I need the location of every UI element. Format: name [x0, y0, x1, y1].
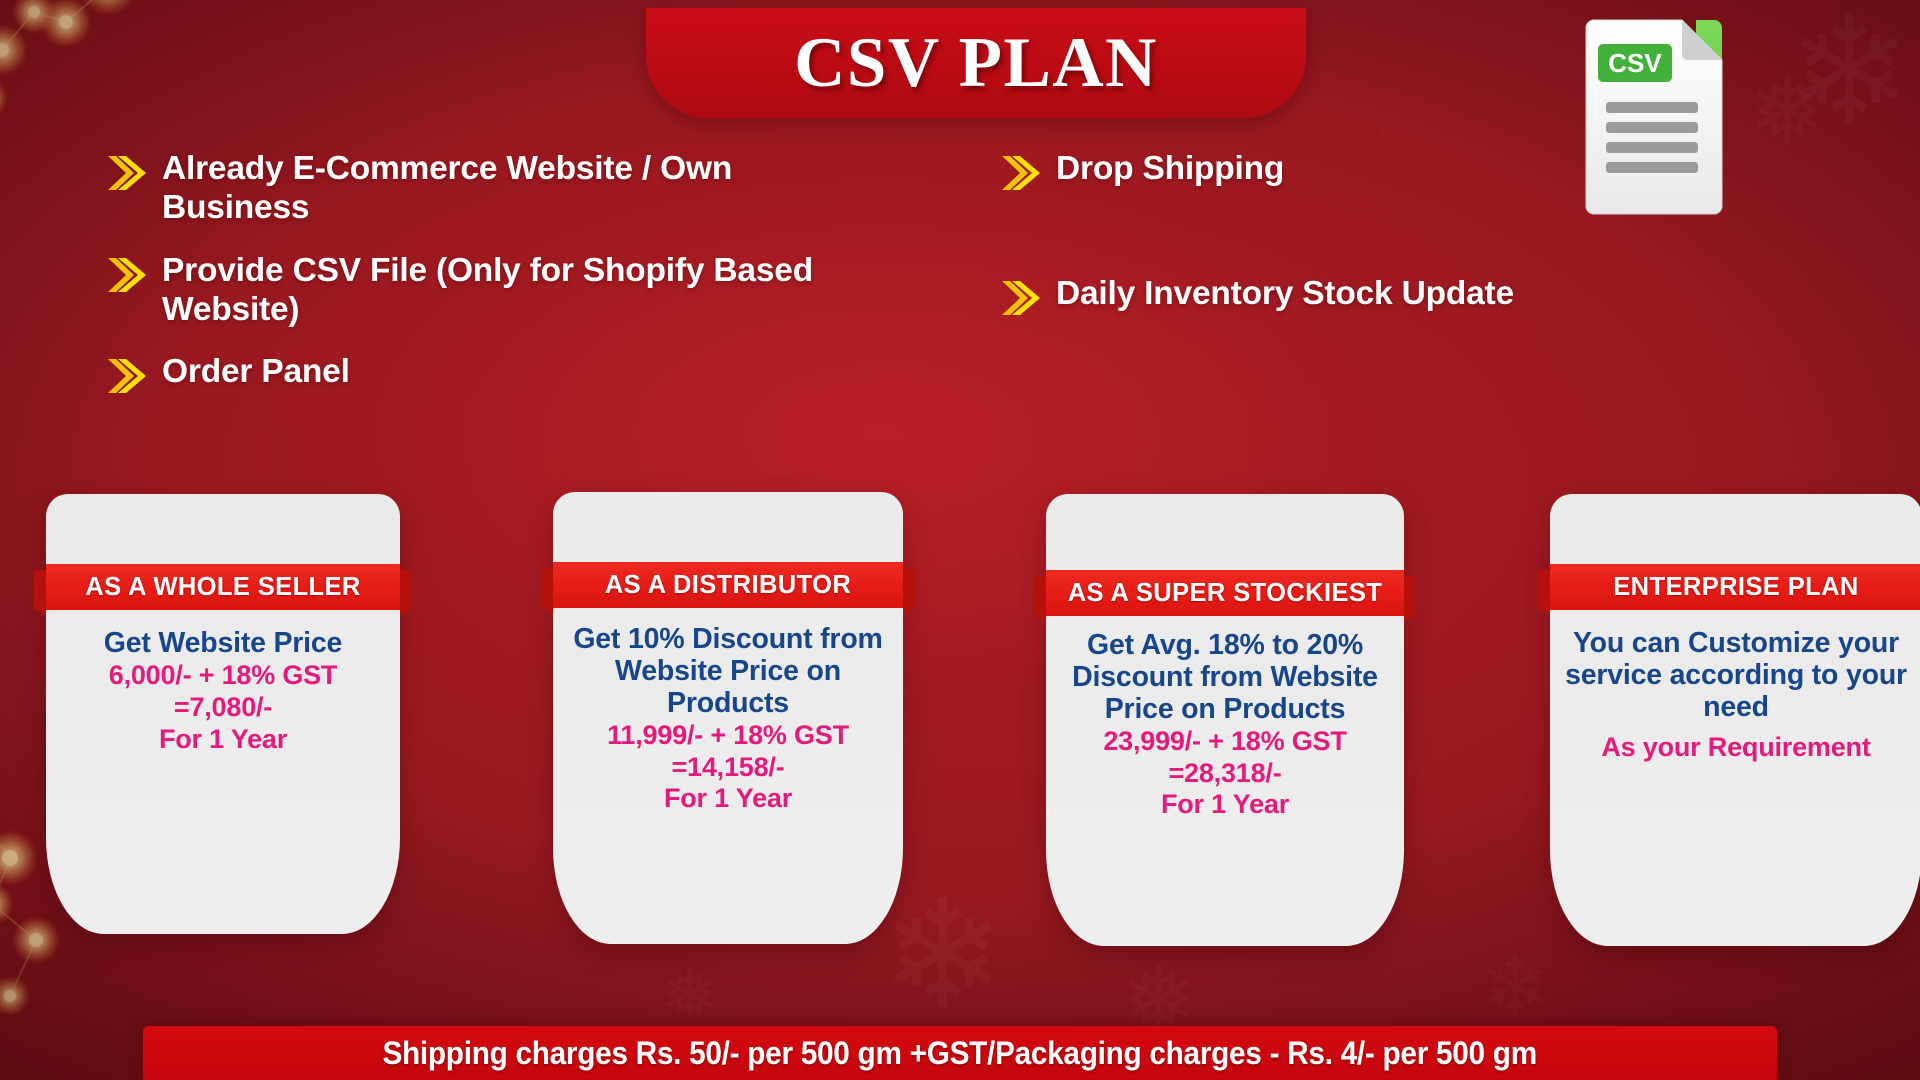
ribbon-band: AS A WHOLE SELLER	[46, 564, 400, 610]
double-chevron-icon	[106, 256, 148, 299]
svg-text:CSV: CSV	[1608, 48, 1662, 78]
plan-price-line: For 1 Year	[565, 783, 891, 815]
page-title-banner: CSV PLAN	[646, 8, 1306, 118]
plan-card-body: Get Website Price 6,000/- + 18% GST =7,0…	[46, 628, 400, 755]
feature-item: Daily Inventory Stock Update	[1000, 275, 1700, 322]
double-chevron-icon	[1000, 154, 1042, 197]
plan-heading: Get 10% Discount from Website Price on P…	[565, 624, 891, 720]
plan-heading: Get Website Price	[58, 628, 388, 660]
double-chevron-icon	[106, 154, 148, 197]
plan-card-body: Get Avg. 18% to 20% Discount from Websit…	[1046, 630, 1404, 821]
plan-card-enterprise[interactable]: ENTERPRISE PLAN You can Customize your s…	[1550, 494, 1920, 946]
plan-card-group: AS A WHOLE SELLER Get Website Price 6,00…	[0, 494, 1920, 974]
ribbon-band: AS A DISTRIBUTOR	[553, 562, 903, 608]
plan-card-distributor[interactable]: AS A DISTRIBUTOR Get 10% Discount from W…	[553, 492, 903, 944]
ribbon-fold-left	[34, 570, 46, 616]
feature-label: Order Panel	[162, 353, 350, 392]
feature-label: Provide CSV File (Only for Shopify Based…	[162, 252, 846, 330]
plan-card-whole-seller[interactable]: AS A WHOLE SELLER Get Website Price 6,00…	[46, 494, 400, 934]
page-title: CSV PLAN	[794, 23, 1158, 104]
plan-price-line: =7,080/-	[58, 692, 388, 724]
feature-label: Drop Shipping	[1056, 150, 1284, 189]
feature-column-right: Drop Shipping Daily Inventory Stock Upda…	[1000, 150, 1700, 400]
double-chevron-icon	[1000, 279, 1042, 322]
ribbon-fold-left	[1034, 576, 1046, 622]
plan-ribbon: AS A WHOLE SELLER	[34, 564, 412, 610]
feature-item: Drop Shipping	[1000, 150, 1700, 197]
snowflake-icon: ❅	[1749, 66, 1826, 158]
feature-label: Daily Inventory Stock Update	[1056, 275, 1514, 314]
ribbon-band: ENTERPRISE PLAN	[1550, 564, 1920, 610]
plan-ribbon-label: AS A DISTRIBUTOR	[605, 571, 851, 600]
plan-ribbon: AS A DISTRIBUTOR	[541, 562, 915, 608]
plan-heading: You can Customize your service according…	[1562, 628, 1910, 724]
plan-ribbon-label: ENTERPRISE PLAN	[1613, 573, 1858, 602]
double-chevron-icon	[106, 357, 148, 400]
feature-item: Order Panel	[106, 353, 846, 400]
plan-ribbon: AS A SUPER STOCKIEST	[1034, 570, 1416, 616]
footer-text: Shipping charges Rs. 50/- per 500 gm +GS…	[383, 1035, 1537, 1072]
plan-heading: Get Avg. 18% to 20% Discount from Websit…	[1058, 630, 1392, 726]
plan-price-line: 11,999/- + 18% GST	[565, 720, 891, 752]
spacer	[1562, 724, 1910, 732]
ribbon-fold-right	[400, 570, 412, 616]
plan-price-line: For 1 Year	[1058, 789, 1392, 821]
plan-price-line: =28,318/-	[1058, 758, 1392, 790]
feature-item: Already E-Commerce Website / Own Busines…	[106, 150, 846, 228]
plan-price-line: For 1 Year	[58, 724, 388, 756]
footer-banner: Shipping charges Rs. 50/- per 500 gm +GS…	[143, 1026, 1777, 1080]
plan-card-body: You can Customize your service according…	[1550, 628, 1920, 764]
plan-price-line: 6,000/- + 18% GST	[58, 660, 388, 692]
ribbon-fold-left	[541, 568, 553, 614]
ribbon-band: AS A SUPER STOCKIEST	[1046, 570, 1404, 616]
feature-item: Provide CSV File (Only for Shopify Based…	[106, 252, 846, 330]
ribbon-fold-right	[903, 568, 915, 614]
plan-card-body: Get 10% Discount from Website Price on P…	[553, 624, 903, 815]
ribbon-fold-right	[1404, 576, 1416, 622]
ribbon-fold-left	[1538, 570, 1550, 616]
feature-label: Already E-Commerce Website / Own Busines…	[162, 150, 846, 228]
plan-ribbon: ENTERPRISE PLAN	[1538, 564, 1920, 610]
plan-ribbon-label: AS A WHOLE SELLER	[85, 573, 361, 602]
plan-price-line: 23,999/- + 18% GST	[1058, 726, 1392, 758]
plan-ribbon-label: AS A SUPER STOCKIEST	[1068, 579, 1383, 608]
feature-column-left: Already E-Commerce Website / Own Busines…	[106, 150, 846, 424]
plan-price-line: =14,158/-	[565, 752, 891, 784]
plan-card-super-stockiest[interactable]: AS A SUPER STOCKIEST Get Avg. 18% to 20%…	[1046, 494, 1404, 946]
plan-price-line: As your Requirement	[1562, 732, 1910, 764]
